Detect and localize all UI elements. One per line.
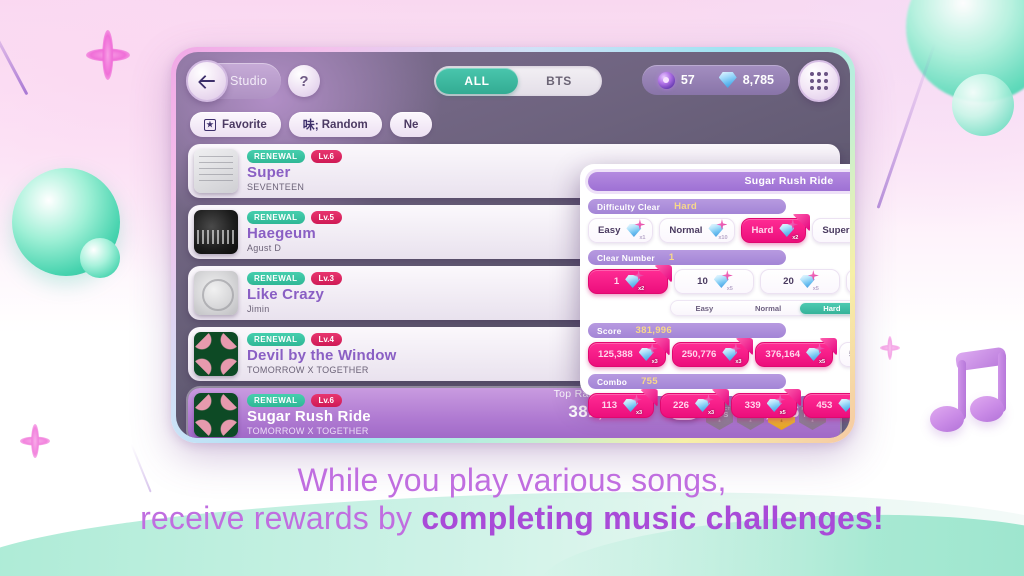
- score-option[interactable]: 501,552 x5: [839, 342, 850, 367]
- category-tabs: ALL BTS: [434, 66, 602, 96]
- caption-line-2: receive rewards by completing music chal…: [0, 500, 1024, 538]
- top-bar: Studio ? ALL BTS 57 8,: [176, 52, 850, 106]
- tab-all[interactable]: ALL: [436, 68, 518, 94]
- section-label: Difficulty Clear: [597, 202, 660, 212]
- currency-disc[interactable]: 57: [658, 72, 695, 89]
- diamond-reward-icon: x5: [800, 273, 817, 290]
- diamond-reward-icon: x5: [838, 397, 850, 414]
- album-art: [194, 210, 238, 254]
- back-arrow-icon: [199, 75, 216, 88]
- filter-random[interactable]: 味; Random: [289, 112, 382, 137]
- music-note-icon: [930, 350, 1006, 436]
- diamond-reward-icon: x3: [695, 397, 712, 414]
- difficulty-option-super-hard[interactable]: Super Hard x10: [812, 218, 850, 243]
- renewal-badge: RENEWAL: [247, 394, 305, 407]
- difficulty-tab-group: Easy Normal Hard Super Hard: [670, 300, 850, 316]
- clear-number-option[interactable]: 30 x5: [846, 269, 850, 294]
- help-button[interactable]: ?: [288, 65, 320, 97]
- album-art: [194, 393, 238, 437]
- gem-count: 8,785: [743, 73, 774, 87]
- difficulty-options: Easy x1 Normal x10 Har: [588, 218, 850, 243]
- section-value: 381,996: [636, 325, 672, 336]
- section-header-difficulty: Difficulty Clear Hard: [588, 199, 786, 214]
- level-badge: Lv.5: [311, 211, 342, 224]
- diamond-reward-icon: x5: [714, 273, 731, 290]
- level-badge: Lv.6: [311, 150, 342, 163]
- combo-option[interactable]: 113 x3: [588, 393, 654, 418]
- difficulty-tab-normal[interactable]: Normal: [736, 303, 800, 314]
- promo-screenshot: Studio ? ALL BTS 57 8,: [0, 0, 1024, 576]
- diamond-reward-icon: x2: [625, 273, 642, 290]
- modal-header: Sugar Rush Ride ×: [588, 170, 850, 192]
- clear-number-option[interactable]: 20 x5: [760, 269, 840, 294]
- score-option[interactable]: 376,164 x5: [755, 342, 833, 367]
- album-art: [194, 271, 238, 315]
- currency-gem[interactable]: 8,785: [719, 72, 774, 88]
- renewal-badge: RENEWAL: [247, 211, 305, 224]
- diamond-reward-icon: x10: [708, 222, 725, 239]
- sparkle-icon: [880, 336, 900, 360]
- caption-line-1: While you play various songs,: [0, 462, 1024, 500]
- combo-option[interactable]: 339 x5: [731, 393, 797, 418]
- renewal-badge: RENEWAL: [247, 272, 305, 285]
- score-option[interactable]: 125,388 x3: [588, 342, 666, 367]
- clear-number-option[interactable]: 10 x5: [674, 269, 754, 294]
- background-orb-top-right: [906, 0, 1024, 102]
- caption-line-2-bold: completing music challenges!: [421, 500, 884, 536]
- renewal-badge: RENEWAL: [247, 333, 305, 346]
- section-header-score: Score 381,996: [588, 323, 786, 338]
- disc-count: 57: [681, 73, 695, 87]
- background-orb-large: [12, 168, 120, 276]
- page-title: Studio: [230, 74, 267, 88]
- caption-line-2-normal: receive rewards by: [140, 500, 421, 536]
- diamond-reward-icon: x1: [626, 222, 643, 239]
- difficulty-option-easy[interactable]: Easy x1: [588, 218, 653, 243]
- section-header-combo: Combo 755: [588, 374, 786, 389]
- back-button[interactable]: [186, 60, 228, 102]
- modal-title: Sugar Rush Ride: [588, 172, 850, 191]
- combo-options: 113 x3 226 x3 339: [588, 393, 850, 418]
- difficulty-option-hard[interactable]: Hard x2: [741, 218, 806, 243]
- diamond-reward-icon: x5: [767, 397, 784, 414]
- filter-new-label: Ne: [404, 119, 419, 131]
- diamond-reward-icon: x3: [722, 346, 739, 363]
- promo-caption: While you play various songs, receive re…: [0, 462, 1024, 538]
- level-badge: Lv.6: [311, 394, 342, 407]
- filter-favorite[interactable]: ★ Favorite: [190, 112, 281, 137]
- section-label: Combo: [597, 377, 627, 387]
- song-badges: RENEWAL Lv.6: [247, 150, 830, 163]
- level-badge: Lv.3: [311, 272, 342, 285]
- sparkle-icon: [20, 424, 50, 458]
- difficulty-tab-easy[interactable]: Easy: [673, 303, 737, 314]
- renewal-badge: RENEWAL: [247, 150, 305, 163]
- section-label: Clear Number: [597, 253, 655, 263]
- background-streak: [0, 13, 28, 96]
- filter-row: ★ Favorite 味; Random Ne: [190, 112, 432, 137]
- grid-menu-button[interactable]: [798, 60, 840, 102]
- background-orb-right: [952, 74, 1014, 136]
- diamond-icon: [719, 72, 737, 88]
- clear-number-option[interactable]: 1 x2: [588, 269, 668, 294]
- combo-option[interactable]: 226 x3: [660, 393, 726, 418]
- album-art: [194, 149, 238, 193]
- diamond-reward-icon: x5: [806, 346, 823, 363]
- combo-option[interactable]: 453 x5: [803, 393, 850, 418]
- background-orb-small: [80, 238, 120, 278]
- section-value: Hard: [674, 201, 697, 212]
- diamond-reward-icon: x2: [779, 222, 796, 239]
- score-option[interactable]: 250,776 x3: [672, 342, 750, 367]
- filter-random-label: Random: [322, 119, 368, 131]
- section-label: Score: [597, 326, 622, 336]
- sparkle-icon: [86, 30, 130, 80]
- grid-menu-icon: [810, 72, 828, 90]
- disc-icon: [658, 72, 675, 89]
- background-streak: [877, 42, 937, 208]
- star-bookmark-icon: ★: [204, 119, 216, 131]
- difficulty-tab-hard[interactable]: Hard: [800, 303, 850, 314]
- level-badge: Lv.4: [311, 333, 342, 346]
- section-value: 755: [641, 376, 658, 387]
- tab-bts[interactable]: BTS: [518, 68, 600, 94]
- clear-number-options: 1 x2 10 x5 20: [588, 269, 850, 294]
- section-header-clear-number: Clear Number 1: [588, 250, 786, 265]
- diamond-reward-icon: x3: [639, 346, 656, 363]
- section-value: 1: [669, 252, 675, 263]
- device-frame: Studio ? ALL BTS 57 8,: [171, 47, 855, 443]
- score-options: 125,388 x3 250,776 x3: [588, 342, 850, 367]
- game-screen: Studio ? ALL BTS 57 8,: [176, 52, 850, 438]
- difficulty-option-normal[interactable]: Normal x10: [659, 218, 735, 243]
- shuffle-icon: 味;: [303, 119, 316, 131]
- diamond-reward-icon: x3: [623, 397, 640, 414]
- filter-new[interactable]: Ne: [390, 112, 433, 137]
- currency-bar: 57 8,785: [642, 65, 790, 95]
- filter-favorite-label: Favorite: [222, 119, 267, 131]
- challenge-modal: Sugar Rush Ride × Difficulty Clear Hard …: [580, 164, 850, 396]
- album-art: [194, 332, 238, 376]
